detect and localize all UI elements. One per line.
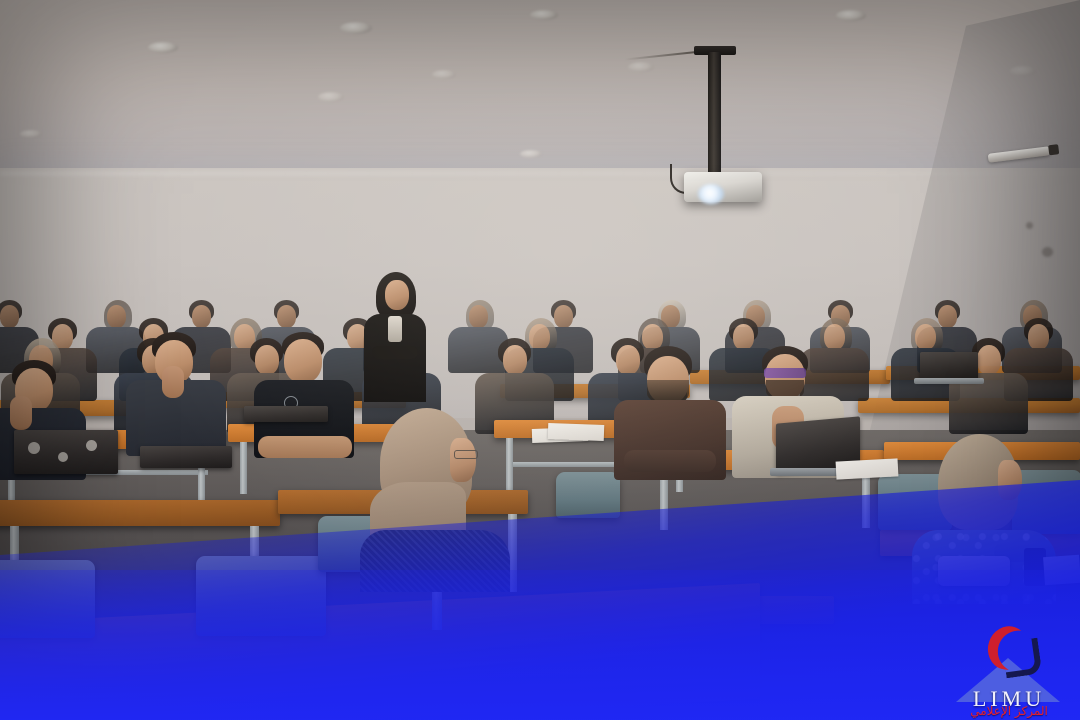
paper-sheet-center xyxy=(836,458,899,479)
chair-foreground-mid xyxy=(196,556,326,636)
student-hand-to-chin xyxy=(10,396,32,430)
wall-ceiling-seam xyxy=(0,172,1080,175)
student-face xyxy=(192,305,211,328)
wall-scuff-1 xyxy=(1026,222,1033,229)
student-patterned-top xyxy=(360,530,510,592)
ceiling-projector xyxy=(686,24,756,204)
logo-arabic-text: المركز الإعلامي xyxy=(946,704,1072,718)
mobile-phone xyxy=(1024,548,1046,586)
desk-row3-far-right-leg-b xyxy=(862,470,870,528)
chair-foreground-left xyxy=(0,560,95,638)
student-mercedes-polo xyxy=(254,332,354,458)
laptop-screen-left-2[interactable] xyxy=(140,446,232,468)
projector-lens-glow-icon xyxy=(698,184,724,204)
laptop-screen-left-3[interactable] xyxy=(244,406,328,422)
student-face xyxy=(1028,324,1049,350)
pencil-case xyxy=(938,556,1010,586)
student-face xyxy=(277,305,296,328)
downlight-9 xyxy=(520,150,542,158)
paper-sheet-mid xyxy=(548,423,605,441)
downlight-6 xyxy=(628,62,654,72)
classroom-photo: LIMU المركز الإعلامي xyxy=(0,0,1080,720)
student-brown-sweater-beard xyxy=(616,346,724,480)
projector-mount-pole xyxy=(708,52,721,182)
limu-media-center-watermark: LIMU المركز الإعلامي xyxy=(946,620,1072,716)
desk-row2-left xyxy=(0,500,280,526)
presenter-face xyxy=(385,280,409,310)
student-foreground-hijab-beige xyxy=(366,408,510,588)
student-face xyxy=(503,345,527,375)
downlight-3 xyxy=(318,92,344,102)
paper-sheet-right xyxy=(1043,555,1080,585)
downlight-1 xyxy=(148,42,178,53)
presenter-arms-crossed xyxy=(372,346,418,359)
student-grey-vest xyxy=(128,332,224,456)
student-face-front-3 xyxy=(284,339,322,383)
laptop-base-back-right[interactable] xyxy=(914,378,984,384)
downlight-7 xyxy=(836,10,866,21)
student-face-profile-2 xyxy=(998,460,1022,500)
laptop-sticker-2 xyxy=(58,452,68,462)
laptop-sticker-3 xyxy=(86,440,97,451)
student-face xyxy=(469,305,488,328)
wall-scuff-2 xyxy=(1042,247,1053,257)
laptop-sticker-1 xyxy=(28,442,40,454)
student-face xyxy=(0,305,19,328)
student-forearms-on-desk xyxy=(258,436,352,458)
student-face xyxy=(977,345,1001,375)
desk-row3-center-leg-a xyxy=(240,442,247,494)
student-face xyxy=(915,324,936,350)
downlight-5 xyxy=(530,10,558,20)
laptop-screen-back-right[interactable] xyxy=(920,352,978,380)
student-arms-crossed-2 xyxy=(624,450,716,472)
student-hand-gesture xyxy=(162,366,184,398)
downlight-10 xyxy=(20,130,42,138)
presenter-shirt-collar xyxy=(388,316,402,342)
eyeglasses-icon xyxy=(454,450,478,459)
standing-presenter xyxy=(360,272,432,402)
downlight-2 xyxy=(340,22,372,34)
purple-glasses-icon xyxy=(764,368,806,378)
chair-back-mid xyxy=(556,472,620,518)
downlight-4 xyxy=(432,70,456,79)
student-face-profile xyxy=(450,438,476,482)
